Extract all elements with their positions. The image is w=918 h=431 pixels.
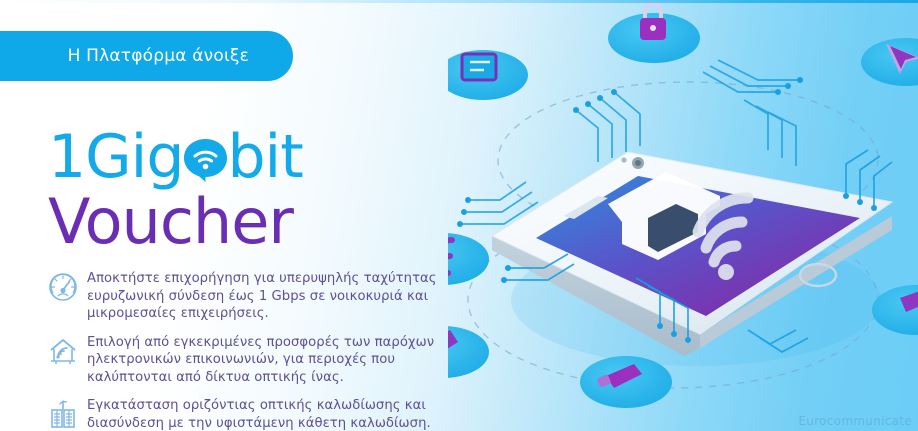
feature-item-text: Επιλογή από εγκεκριμένες προσφορές των π… xyxy=(87,334,467,387)
platform-open-banner[interactable]: Η Πλατφόρμα άνοιξε xyxy=(0,31,293,81)
logo-text-gig: 1Gig xyxy=(48,127,183,187)
logo-text-bit: bit xyxy=(227,127,302,187)
speedometer-icon xyxy=(47,271,79,303)
feature-item-text: Εγκατάσταση οριζόντιας οπτικής καλωδίωση… xyxy=(87,397,467,431)
feature-item-text: Αποκτήστε επιχορήγηση για υπερυψηλής ταχ… xyxy=(87,270,467,323)
logo-line-two: Voucher xyxy=(48,190,303,254)
feature-item: Επιλογή από εγκεκριμένες προσφορές των π… xyxy=(47,334,467,387)
disc-padlock-icon xyxy=(608,4,700,63)
platform-open-banner-label: Η Πλατφόρμα άνοιξε xyxy=(68,46,249,66)
disc-cursor-icon xyxy=(861,38,918,86)
building-antenna-icon xyxy=(47,398,79,430)
feature-list: Αποκτήστε επιχορήγηση για υπερυψηλής ταχ… xyxy=(47,270,467,431)
voucher-logo: 1Gig bit Voucher xyxy=(48,126,303,254)
house-wifi-icon xyxy=(47,335,79,367)
illustration-container xyxy=(448,0,918,431)
disc-document-icon xyxy=(448,50,528,100)
feature-item: Αποκτήστε επιχορήγηση για υπερυψηλής ταχ… xyxy=(47,270,467,323)
watermark-text: Eurocommunicate xyxy=(798,414,912,428)
wifi-speech-bubble-icon xyxy=(182,137,229,184)
disc-megaphone-icon xyxy=(580,356,672,408)
logo-text-voucher: Voucher xyxy=(48,185,293,258)
logo-line-one: 1Gig bit xyxy=(48,126,303,188)
phone-sensor xyxy=(621,157,626,162)
feature-item: Εγκατάσταση οριζόντιας οπτικής καλωδίωση… xyxy=(47,397,467,431)
top-accent-line xyxy=(0,0,918,3)
promo-banner-page: Η Πλατφόρμα άνοιξε 1Gig bit Voucher xyxy=(0,0,918,431)
